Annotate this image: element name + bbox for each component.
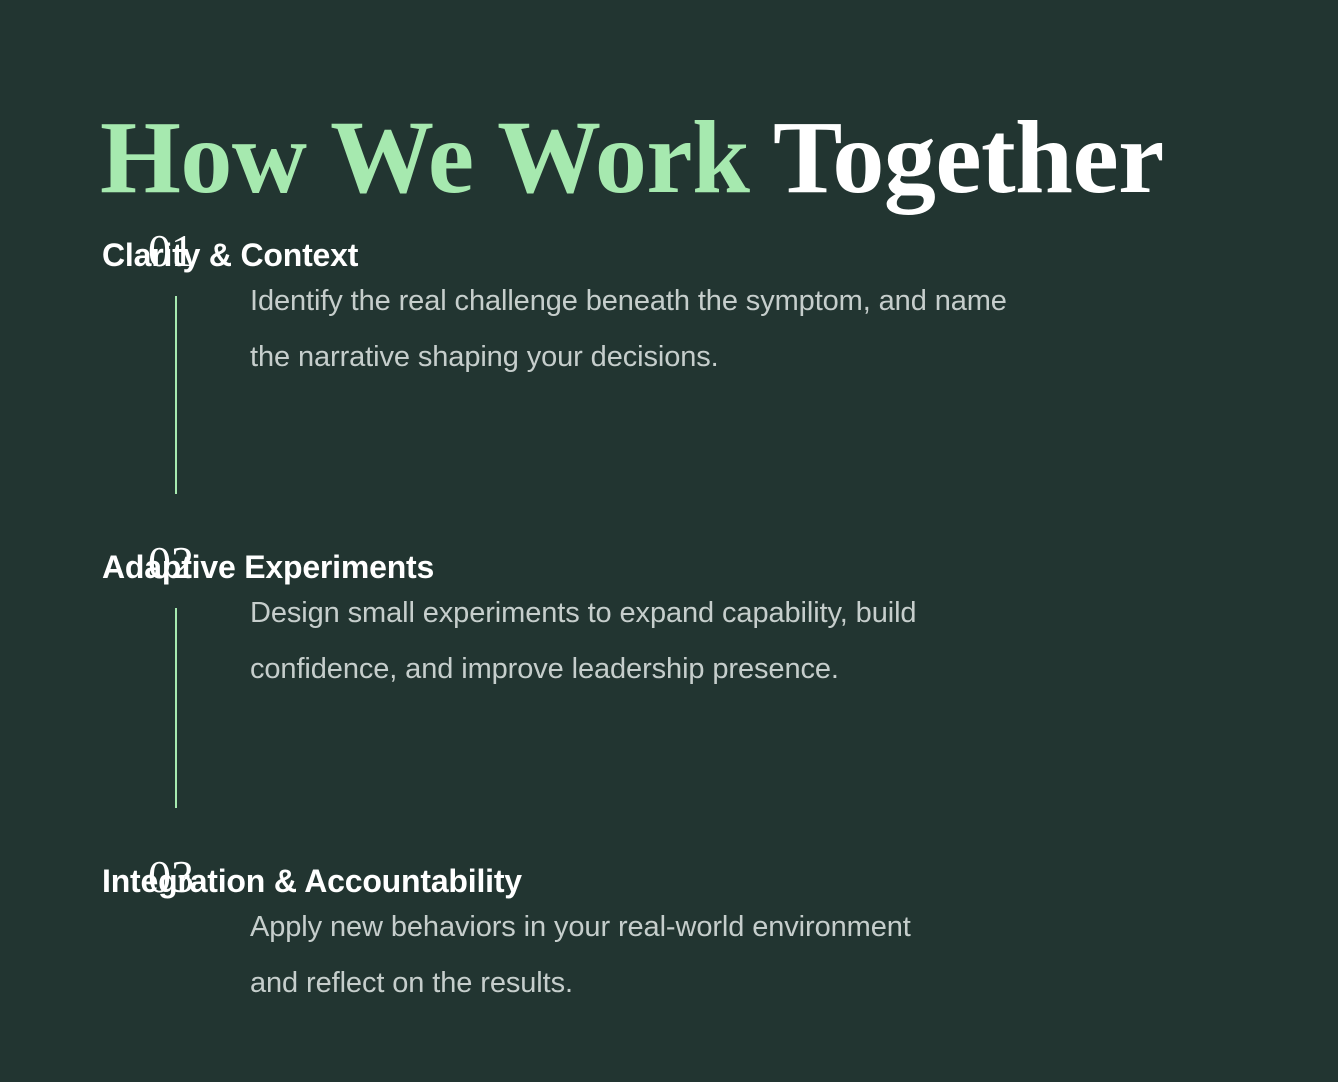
step-item-02: 02 Adaptive Experiments Design small exp… (0, 540, 1338, 818)
page-title-plain: Together (749, 100, 1163, 215)
page-title: How We Work Together (100, 100, 1300, 216)
step-title-02: Adaptive Experiments (102, 550, 434, 585)
connector-line-02 (175, 608, 177, 808)
step-rail-02 (0, 586, 250, 818)
step-header-02: 02 Adaptive Experiments (0, 540, 1338, 586)
step-description-03: Apply new behaviors in your real-world e… (250, 900, 1338, 1012)
step-header-01: 01 Clarity & Context (0, 228, 1338, 274)
step-number-01: 01 (0, 228, 102, 274)
step-rail-03 (0, 900, 250, 1012)
step-body-01: Identify the real challenge beneath the … (0, 274, 1338, 504)
step-description-02-line-2: confidence, and improve leadership prese… (250, 642, 1268, 698)
step-description-01-line-2: the narrative shaping your decisions. (250, 330, 1268, 386)
step-body-02: Design small experiments to expand capab… (0, 586, 1338, 818)
spacer-1 (0, 504, 1338, 540)
step-description-03-line-1: Apply new behaviors in your real-world e… (250, 900, 1268, 956)
step-title-01: Clarity & Context (102, 238, 358, 273)
step-description-03-line-2: and reflect on the results. (250, 956, 1268, 1012)
step-description-01: Identify the real challenge beneath the … (250, 274, 1338, 504)
step-title-03: Integration & Accountability (102, 864, 522, 899)
step-item-03: 03 Integration & Accountability Apply ne… (0, 854, 1338, 1012)
spacer-2 (0, 818, 1338, 854)
step-description-01-line-1: Identify the real challenge beneath the … (250, 274, 1268, 330)
step-body-03: Apply new behaviors in your real-world e… (0, 900, 1338, 1012)
step-header-03: 03 Integration & Accountability (0, 854, 1338, 900)
step-description-02: Design small experiments to expand capab… (250, 586, 1338, 818)
step-number-02: 02 (0, 540, 102, 586)
steps-list: 01 Clarity & Context Identify the real c… (0, 228, 1338, 1012)
step-item-01: 01 Clarity & Context Identify the real c… (0, 228, 1338, 504)
how-we-work-section: How We Work Together 01 Clarity & Contex… (0, 0, 1338, 1082)
page-title-accent: How We Work (100, 100, 749, 215)
connector-line-01 (175, 296, 177, 494)
step-number-03: 03 (0, 854, 102, 900)
step-rail-01 (0, 274, 250, 504)
step-description-02-line-1: Design small experiments to expand capab… (250, 586, 1268, 642)
